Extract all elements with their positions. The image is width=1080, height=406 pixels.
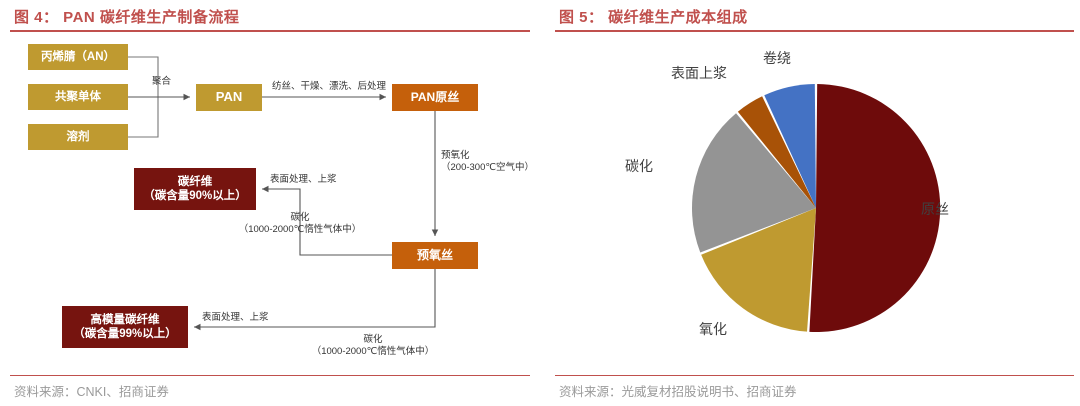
pie-label-yanghua: 氧化 <box>699 319 727 339</box>
edge-label-polymerization: 聚合 <box>152 76 171 88</box>
edge-label-carbonization-a-2: （1000-2000℃惰性气体中） <box>239 224 362 236</box>
node-pan-label: PAN <box>216 89 242 105</box>
node-acrylonitrile: 丙烯腈（AN） <box>28 44 128 70</box>
figure-4-title-rule <box>10 30 530 32</box>
pan-process-flow-diagram: 丙烯腈（AN） 共聚单体 溶剂 PAN PAN原丝 预氧丝 碳纤维 （碳含量90… <box>0 34 536 366</box>
figure-4-footer-rule <box>10 375 530 377</box>
edge-label-spinning: 纺丝、干燥、漂洗、后处理 <box>272 81 386 93</box>
figure-4-source: 资料来源：CNKI、招商证券 <box>14 381 169 400</box>
figure-5-footer-rule <box>555 375 1074 377</box>
figure-4-title: 图 4： PAN 碳纤维生产制备流程 <box>14 6 239 27</box>
node-preoxidized-fiber-label: 预氧丝 <box>417 248 453 263</box>
pie-label-shangjiang: 表面上浆 <box>671 63 727 83</box>
node-pan-precursor-label: PAN原丝 <box>411 90 459 105</box>
node-comonomer-label: 共聚单体 <box>55 90 101 104</box>
edge-label-carbonization-a-1: 碳化 <box>239 212 362 224</box>
node-comonomer: 共聚单体 <box>28 84 128 110</box>
node-hm-carbon-fiber-label-1: 高模量碳纤维 <box>91 313 160 327</box>
edge-label-preoxidation: 预氧化 （200-300℃空气中） <box>441 150 534 175</box>
edge-label-carbonization-b-2: （1000-2000℃惰性气体中） <box>312 346 435 358</box>
pie-svg <box>545 34 1080 366</box>
edge-label-carbonization-b: 碳化 （1000-2000℃惰性气体中） <box>312 334 435 359</box>
node-solvent-label: 溶剂 <box>67 130 90 144</box>
figure-5-source: 资料来源：光威复材招股说明书、招商证券 <box>559 381 797 400</box>
node-solvent: 溶剂 <box>28 124 128 150</box>
node-pan-precursor: PAN原丝 <box>392 84 478 111</box>
edge-label-preoxidation-1: 预氧化 <box>441 150 534 162</box>
pie-label-juanrao: 卷绕 <box>763 48 791 68</box>
edge-label-preoxidation-2: （200-300℃空气中） <box>441 162 534 174</box>
edge-label-carbonization-b-1: 碳化 <box>312 334 435 346</box>
figure-4-panel: 图 4： PAN 碳纤维生产制备流程 <box>0 0 536 406</box>
edge-label-carbonization-a: 碳化 （1000-2000℃惰性气体中） <box>239 212 362 237</box>
cost-composition-pie-chart: 原丝 氧化 碳化 表面上浆 卷绕 <box>545 34 1080 366</box>
figure-5-title: 图 5： 碳纤维生产成本组成 <box>559 6 748 27</box>
edge-label-surface-treatment-a: 表面处理、上浆 <box>270 174 337 186</box>
figure-pair-page: 图 4： PAN 碳纤维生产制备流程 <box>0 0 1080 406</box>
figure-5-panel: 图 5： 碳纤维生产成本组成 原丝 氧化 碳化 表面上浆 卷绕 资料来源：光威复… <box>545 0 1080 406</box>
node-preoxidized-fiber: 预氧丝 <box>392 242 478 269</box>
figure-5-title-rule <box>555 30 1074 32</box>
pie-label-tanhua: 碳化 <box>625 156 653 176</box>
pie-label-yuansi: 原丝 <box>921 199 949 219</box>
node-high-modulus-carbon-fiber: 高模量碳纤维 （碳含量99%以上） <box>62 306 188 348</box>
node-carbon-fiber-label-1: 碳纤维 <box>178 175 213 189</box>
node-hm-carbon-fiber-label-2: （碳含量99%以上） <box>73 327 177 341</box>
node-carbon-fiber-label-2: （碳含量90%以上） <box>143 189 247 203</box>
node-acrylonitrile-label: 丙烯腈（AN） <box>41 50 115 64</box>
pie-slices <box>692 84 940 332</box>
node-pan: PAN <box>196 84 262 111</box>
edge-label-surface-treatment-b: 表面处理、上浆 <box>202 312 269 324</box>
node-carbon-fiber: 碳纤维 （碳含量90%以上） <box>134 168 256 210</box>
